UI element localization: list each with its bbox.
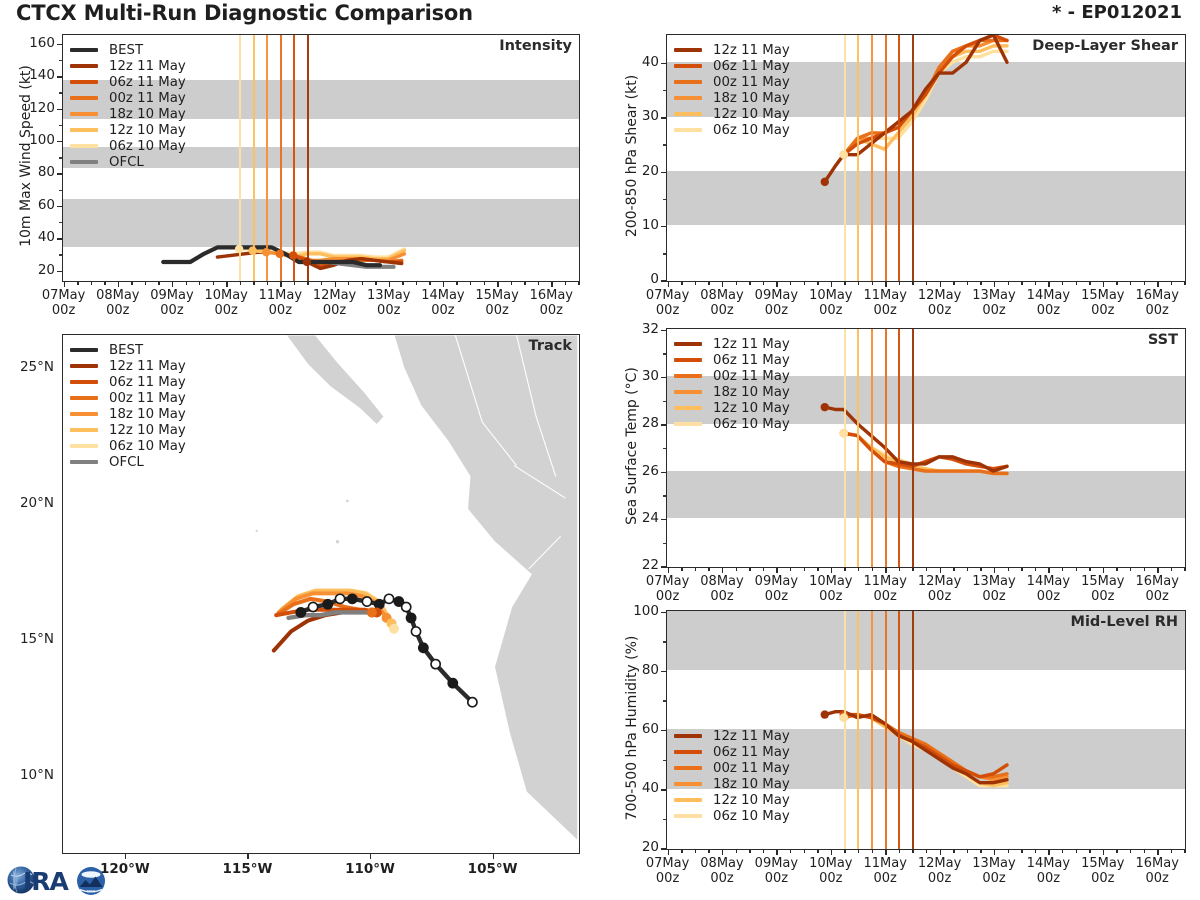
ytickmark-minor [663,353,666,354]
xtickmark-minor [967,567,968,571]
legend-item: 12z 11 May [674,728,790,744]
intensity-ylabel: 10m Max Wind Speed (kt) [18,32,34,280]
xtickmark-minor [470,281,471,285]
legend-item: BEST [70,42,186,58]
xtickmark-minor [804,849,805,853]
legend-item: 00z 11 May [674,368,790,384]
deep_layer_shear-ytick-10: 10 [642,217,659,233]
legend-swatch-4 [70,396,98,400]
mid_level_rh-ytick-40: 40 [642,780,659,796]
best-track-marker-open [362,597,371,606]
init-time-line-18z-10-may [871,611,873,849]
xtickmark-minor [158,281,159,285]
xtickmark-minor [899,567,900,571]
ytickmark [661,519,666,520]
xtickmark-minor [1076,567,1077,571]
sst-ytick-22: 22 [642,557,659,573]
track-title: Track [529,338,572,354]
island-1 [336,540,339,543]
xtick-hour: 00z [431,303,454,318]
mid_level_rh-ytick-80: 80 [642,662,659,678]
legend-label-8: OFCL [109,455,144,470]
legend-label-4: 18z 10 May [713,91,790,106]
legend-swatch-6 [70,428,98,432]
xtickmark-minor [749,281,750,285]
ytickmark-minor [663,760,666,761]
ytickmark [661,789,666,790]
legend-swatch-3 [70,80,98,84]
legend-item: 12z 10 May [70,422,186,438]
xtick-day: 07May [646,856,689,871]
baja-california-landmass [242,335,384,425]
xtickmark-minor [1144,849,1145,853]
legend-label-4: 18z 10 May [713,777,790,792]
xtickmark-major [668,281,669,287]
panel-sst: SST222426283032Sea Surface Temp (°C)07Ma… [608,322,1200,610]
ytickmark [57,76,62,77]
xtickmark-minor [790,281,791,285]
xtickmark-minor [104,281,105,285]
xtickmark-major [1048,567,1049,573]
xtick-hour: 00z [52,303,75,318]
deep_layer_shear-ytick-40: 40 [642,54,659,70]
mexico-mainland-landmass [394,335,578,841]
xtickmark-minor [538,281,539,285]
xtick-day: 16May [1135,856,1178,871]
xtickmark-minor [858,849,859,853]
xtickmark-minor [695,281,696,285]
best-track-marker-open [431,660,440,669]
xtickmark-minor [1062,849,1063,853]
ytickmark-minor [663,144,666,145]
xtickmark-minor [926,849,927,853]
xtickmark-minor [953,281,954,285]
legend-label-1: 12z 11 May [713,43,790,58]
legend-swatch-8 [70,160,98,164]
xtickmark-minor [199,281,200,285]
xtickmark-minor [695,567,696,571]
xtickmark-minor [1184,567,1185,571]
xtickmark-minor [858,567,859,571]
xtick-hour: 00z [710,871,733,886]
xtick-day: 12May [918,574,961,589]
legend-item: 06z 10 May [70,438,186,454]
xtick-hour: 00z [765,303,788,318]
xtickmark-major [497,281,498,287]
xtickmark-major [1157,567,1158,573]
xtickmark-major [940,567,941,573]
xtick-day: 14May [1027,288,1070,303]
ytickmark-minor [663,641,666,642]
xtickmark-minor [926,567,927,571]
legend-swatch-5 [70,112,98,116]
ytickmark [661,424,666,425]
xtick-label-16May: 16May00z [1123,574,1191,604]
best-track-marker-filled [407,613,416,622]
intensity-ytick-80: 80 [38,164,55,180]
xtickmark-minor [681,567,682,571]
legend-item: 06z 11 May [674,352,790,368]
ytickmark-minor [663,401,666,402]
panel-intensity: Intensity2040608010012014016010m Max Win… [0,28,592,318]
init-time-line-12z-11-may [912,329,914,567]
legend-swatch-5 [674,406,702,410]
xtickmark-minor [294,281,295,285]
legend-item: 12z 11 May [70,58,186,74]
xtickmark-major [1103,567,1104,573]
xtick-hour: 00z [160,303,183,318]
legend-swatch-2 [70,364,98,368]
xtick-hour: 00z [819,589,842,604]
xtickmark-minor [131,281,132,285]
init-time-line-06z-10-may [844,329,846,567]
legend-item: 06z 11 May [674,58,790,74]
legend-label-3: 00z 11 May [713,75,790,90]
ytickmark-minor [663,199,666,200]
legend-swatch-3 [674,766,702,770]
legend-label-6: 12z 10 May [109,423,186,438]
legend-swatch-4 [674,782,702,786]
xtickmark-major [389,281,390,287]
xtickmark-minor [912,281,913,285]
xtick-hour: 00z [874,589,897,604]
init-time-line-00z-11-may [885,35,887,281]
mid_level_rh-ytick-20: 20 [642,839,659,855]
legend-label-3: 06z 11 May [109,75,186,90]
xtickmark-major [226,281,227,287]
legend-item: 18z 10 May [70,406,186,422]
xtickmark-minor [213,281,214,285]
forecast-end-marker [389,624,399,634]
legend: 12z 11 May06z 11 May00z 11 May18z 10 May… [674,42,790,138]
sst-ytick-26: 26 [642,463,659,479]
xtickmark-minor [456,281,457,285]
ytickmark [57,44,62,45]
xtick-hour: 00z [1037,589,1060,604]
xtick-hour: 00z [874,303,897,318]
legend-item: 00z 11 May [70,90,186,106]
xtick-hour: 00z [106,303,129,318]
legend-label-3: 00z 11 May [713,369,790,384]
xtick-day: 08May [96,288,139,303]
xtickmark-minor [708,849,709,853]
legend-swatch-4 [674,96,702,100]
deep_layer_shear-ytick-30: 30 [642,108,659,124]
xtickmark-major [551,281,552,287]
xtickmark-minor [872,849,873,853]
ytickmark [661,566,666,567]
xtickmark-minor [429,281,430,285]
xtickmark-minor [899,849,900,853]
xtickmark-minor [967,281,968,285]
legend-label-6: 12z 10 May [109,123,186,138]
xtick-hour: 00z [1091,303,1114,318]
xtick-hour: 00z [1091,871,1114,886]
xtick-hour: 00z [819,871,842,886]
xtickmark-minor [844,281,845,285]
xtick-day: 07May [42,288,85,303]
legend-swatch-2 [674,64,702,68]
xtickmark-minor [858,281,859,285]
xtick-day: 10May [809,856,852,871]
best-track-marker-open [411,627,420,636]
legend-item: OFCL [70,154,186,170]
xtick-hour: 00z [540,303,563,318]
xtickmark-minor [1035,849,1036,853]
legend-swatch-5 [70,412,98,416]
best-track-marker-filled [448,679,457,688]
svg-text:IRA: IRA [23,867,70,896]
xtickmark-minor [1089,849,1090,853]
xtickmark-minor [416,281,417,285]
xtick-day: 15May [475,288,518,303]
best-track-marker-open [468,698,477,707]
xtickmark-major [1048,849,1049,855]
panel-mid-level-rh: Mid-Level RH20406080100700-500 hPa Humid… [608,604,1200,896]
legend-label-6: 06z 10 May [713,417,790,432]
intensity-ytick-60: 60 [38,197,55,213]
legend-item: 12z 10 May [674,106,790,122]
xtick-day: 11May [863,574,906,589]
xtick-hour: 00z [485,303,508,318]
ytickmark-minor [663,543,666,544]
legend-swatch-5 [674,798,702,802]
xtickmark-minor [912,567,913,571]
xtick-day: 13May [367,288,410,303]
init-time-line-00z-11-may [885,611,887,849]
xtick-hour: 00z [928,589,951,604]
xtickmark-minor [511,281,512,285]
xtickmark-minor [1021,281,1022,285]
xtick-day: 12May [918,856,961,871]
xtick-day: 16May [1135,288,1178,303]
ytickmark [661,117,666,118]
legend-swatch-6 [674,128,702,132]
ytickmark [57,109,62,110]
legend-item: 00z 11 May [674,760,790,776]
legend: 12z 11 May06z 11 May00z 11 May18z 10 May… [674,336,790,432]
xtickmark-minor [967,849,968,853]
init-time-line-06z-10-may [844,611,846,849]
xtickmark-minor [145,281,146,285]
xtickmark-major [940,281,941,287]
xtickmark-major [668,567,669,573]
xtickmark-minor [1089,281,1090,285]
xtickmark-major [722,567,723,573]
legend-swatch-6 [674,814,702,818]
xtickmark-minor [912,849,913,853]
xtickmark-minor [980,849,981,853]
deep_layer_shear-title: Deep-Layer Shear [1032,38,1178,54]
xtickmark-major [885,849,886,855]
xtickmark-minor [524,281,525,285]
xtickmark-minor [375,281,376,285]
legend-label-6: 06z 10 May [713,809,790,824]
legend-swatch-1 [674,48,702,52]
xtick-day: 14May [1027,574,1070,589]
best-track-marker-filled [419,643,428,652]
xtickmark-minor [253,281,254,285]
sst-title: SST [1148,332,1178,348]
xtickmark-major [64,281,65,287]
xtickmark-minor [1021,849,1022,853]
storm-id-label: * - EP012021 [1052,2,1182,23]
legend-item: 12z 10 May [70,122,186,138]
legend-swatch-5 [674,112,702,116]
legend-item: 12z 11 May [674,42,790,58]
ytickmark-minor [59,92,62,93]
ytickmark [661,330,666,331]
legend-label-5: 12z 10 May [713,401,790,416]
xtick-hour: 00z [710,303,733,318]
legend-item: 00z 11 May [674,74,790,90]
xtickmark-minor [1130,567,1131,571]
legend-item: BEST [70,342,186,358]
track-xtick-label-105°W: 105°W [453,862,533,877]
ytickmark [661,63,666,64]
cira-logo: IRA CIRA [6,862,118,898]
sst-ytick-24: 24 [642,510,659,526]
init-time-line-00z-11-may [885,329,887,567]
legend-swatch-2 [674,750,702,754]
xtick-day: 15May [1081,856,1124,871]
xtick-hour: 00z [377,303,400,318]
xtickmark-minor [484,281,485,285]
xtick-hour: 00z [323,303,346,318]
legend-label-8: OFCL [109,155,144,170]
xtickmark-minor [749,567,750,571]
xtickmark-minor [899,281,900,285]
track-xtickmark [125,853,126,859]
legend-label-5: 12z 10 May [713,107,790,122]
ytickmark-minor [59,60,62,61]
xtick-hour: 00z [1037,871,1060,886]
best-track-marker-open [335,594,344,603]
cira-logo-graphic: IRA CIRA [6,862,118,898]
xtickmark-minor [1144,281,1145,285]
legend-item: 12z 10 May [674,792,790,808]
legend-item: 06z 10 May [70,138,186,154]
xtick-day: 10May [204,288,247,303]
svg-text:CIRA: CIRA [87,889,96,893]
page-title: CTCX Multi-Run Diagnostic Comparison [16,1,473,25]
legend-swatch-4 [674,390,702,394]
xtick-hour: 00z [1146,589,1169,604]
ytickmark [661,377,666,378]
legend-label-2: 12z 11 May [109,359,186,374]
init-time-line-06z-10-may [239,35,241,281]
mid_level_rh-title: Mid-Level RH [1071,614,1178,630]
xtickmark-minor [763,849,764,853]
xtickmark-minor [321,281,322,285]
legend-item: 12z 11 May [674,336,790,352]
xtickmark-minor [362,281,363,285]
island-2 [346,500,349,503]
xtickmark-major [172,281,173,287]
legend: BEST12z 11 May06z 11 May00z 11 May18z 10… [70,342,186,470]
xtickmark-major [831,281,832,287]
xtickmark-minor [1008,849,1009,853]
best-track-marker-open [308,602,317,611]
ytickmark [57,238,62,239]
legend-swatch-2 [674,358,702,362]
xtick-day: 11May [863,856,906,871]
legend-swatch-6 [674,422,702,426]
xtickmark-major [885,567,886,573]
legend-swatch-8 [70,460,98,464]
intensity-title: Intensity [499,38,572,54]
ytickmark-minor [663,253,666,254]
init-marker [821,710,829,718]
legend-item: 06z 11 May [70,374,186,390]
xtick-hour: 00z [765,871,788,886]
track-ytick-15°N: 15°N [20,631,54,647]
xtickmark-major [722,849,723,855]
init-time-line-06z-11-may [898,35,900,281]
legend-item: 00z 11 May [70,390,186,406]
xtick-day: 08May [700,288,743,303]
xtick-day: 13May [972,288,1015,303]
xtick-hour: 00z [928,871,951,886]
ytickmark [57,141,62,142]
intensity-ytick-20: 20 [38,262,55,278]
xtickmark-minor [763,281,764,285]
legend-label-1: 12z 11 May [713,729,790,744]
legend-label-4: 18z 10 May [713,385,790,400]
ytickmark [661,730,666,731]
xtick-hour: 00z [656,303,679,318]
best-track-marker-open [384,594,393,603]
xtickmark-minor [1116,567,1117,571]
header-bar: CTCX Multi-Run Diagnostic Comparison * -… [0,0,1200,28]
xtickmark-major [280,281,281,287]
xtickmark-minor [763,567,764,571]
xtick-hour: 00z [1091,589,1114,604]
init-time-line-18z-10-may [871,329,873,567]
xtickmark-minor [817,281,818,285]
ytickmark-minor [663,495,666,496]
legend-item: 06z 11 May [674,744,790,760]
xtickmark-minor [844,567,845,571]
ytickmark-minor [663,819,666,820]
legend-label-5: 18z 10 May [109,407,186,422]
xtickmark-minor [77,281,78,285]
legend-label-1: 12z 11 May [713,337,790,352]
legend-item: 06z 11 May [70,74,186,90]
track-ytick-10°N: 10°N [20,767,54,783]
legend-swatch-1 [70,348,98,352]
xtick-day: 10May [809,574,852,589]
legend-swatch-4 [70,96,98,100]
legend-item: 06z 10 May [674,122,790,138]
track-xtick-label-110°W: 110°W [330,862,410,877]
xtick-day: 12May [313,288,356,303]
xtickmark-major [776,281,777,287]
legend-swatch-1 [674,342,702,346]
xtickmark-major [335,281,336,287]
xtick-day: 09May [755,856,798,871]
xtickmark-minor [844,849,845,853]
xtickmark-minor [736,567,737,571]
xtickmark-minor [681,281,682,285]
sst-ytick-32: 32 [642,321,659,337]
legend-item: 18z 10 May [674,90,790,106]
deep_layer_shear-ytick-20: 20 [642,163,659,179]
ytickmark-minor [59,125,62,126]
xtickmark-minor [1062,281,1063,285]
ytickmark-minor [59,190,62,191]
xtick-day: 09May [755,574,798,589]
